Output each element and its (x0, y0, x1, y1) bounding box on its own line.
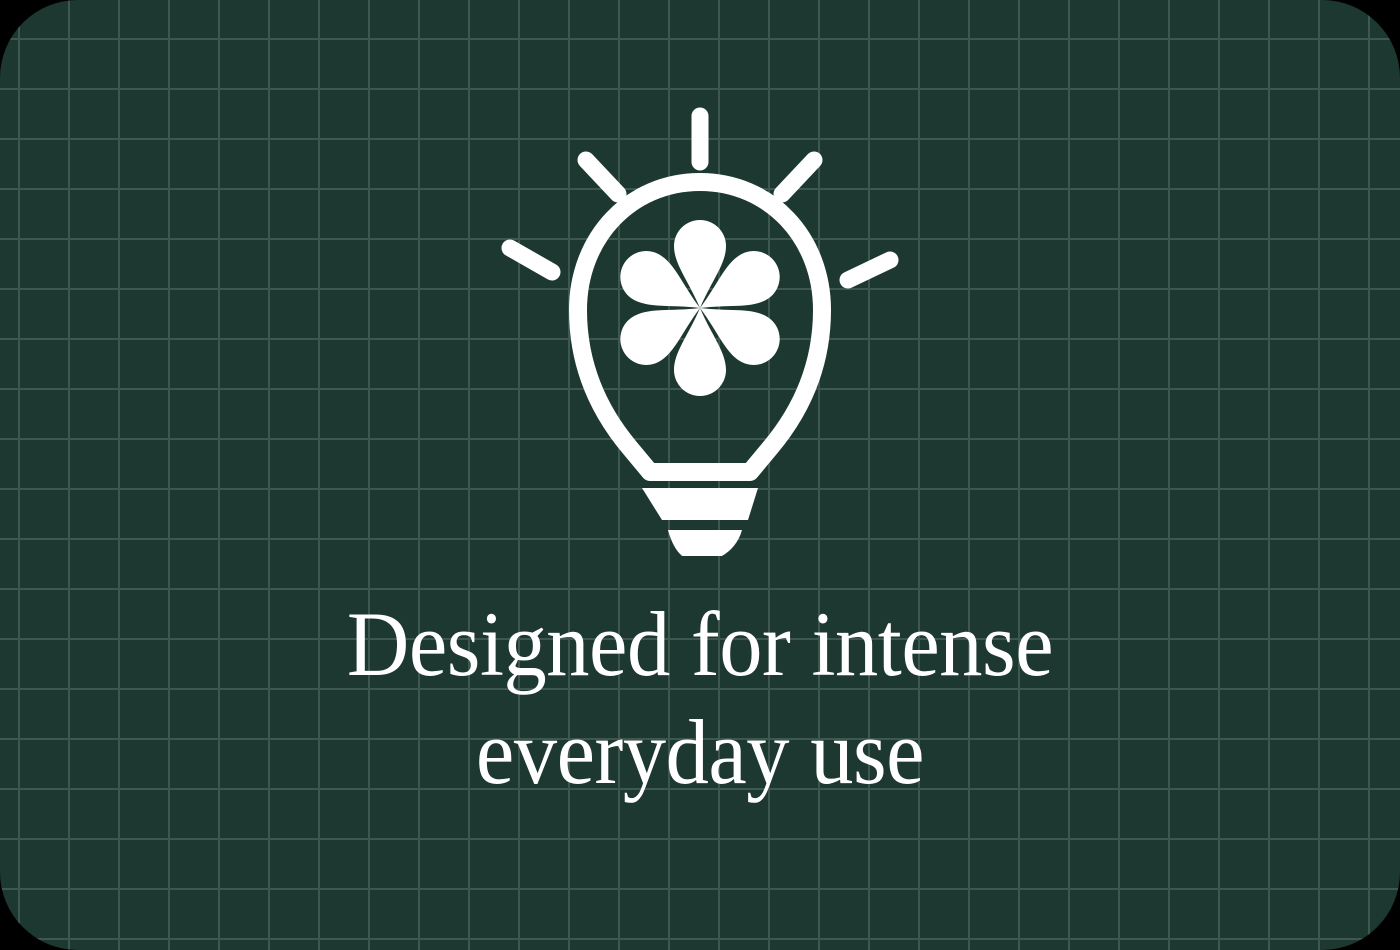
feature-card: Designed for intense everyday use (0, 0, 1400, 950)
headline-line-2: everyday use (192, 698, 1207, 806)
headline: Designed for intense everyday use (192, 590, 1207, 806)
flower-petals-group (611, 220, 789, 396)
ray-upper-right (782, 160, 814, 194)
bulb-base-band (642, 488, 758, 520)
ray-upper-left (586, 160, 618, 194)
bulb-base-cap (668, 530, 742, 556)
card-content: Designed for intense everyday use (0, 0, 1400, 950)
headline-line-1: Designed for intense (192, 590, 1207, 698)
ray-lower-right (848, 260, 890, 280)
lightbulb-flower-icon (490, 96, 910, 556)
ray-lower-left (510, 248, 552, 272)
